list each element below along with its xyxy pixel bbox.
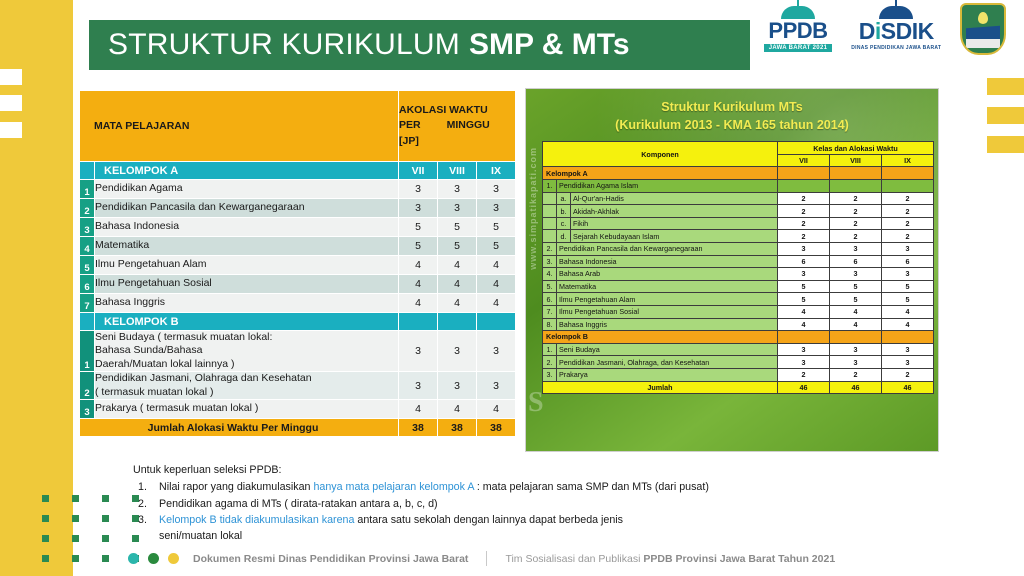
- mts-row-ix: 3: [882, 268, 934, 281]
- mts-row-label: Fikih: [571, 217, 778, 230]
- row-number: 3: [80, 400, 95, 419]
- mts-total-vii: 46: [778, 381, 830, 394]
- mts-row-no: 1.: [543, 343, 557, 356]
- mts-total-viii: 46: [830, 381, 882, 394]
- ppdb-logo: PPDB JAWA BARAT 2021: [764, 6, 833, 52]
- mts-row-sub: b.: [557, 205, 571, 218]
- mts-row-no: [543, 217, 557, 230]
- note-highlight: hanya mata pelajaran kelompok A: [313, 481, 473, 493]
- row-subject-line1: Pendidikan Jasmani, Olahraga dan Kesehat…: [95, 372, 398, 385]
- mts-row-no: 2.: [543, 356, 557, 369]
- row-number: 3: [80, 218, 95, 237]
- table-header-row: MATA PELAJARAN AKOLASI WAKTU PER MINGGU …: [80, 91, 516, 162]
- header-alloc-line2: PER MINGGU: [399, 118, 515, 133]
- group-b-blank-viii: [438, 313, 477, 331]
- row-subject-line2: ( termasuk muatan lokal ): [95, 386, 398, 399]
- mts-row-viii: 2: [830, 368, 882, 381]
- mts-row-ix: 6: [882, 255, 934, 268]
- table-row: 4 Matematika 5 5 5: [80, 237, 516, 256]
- table-row: 7 Bahasa Inggris 4 4 4: [80, 294, 516, 313]
- row-subject: Pendidikan Agama: [95, 180, 399, 199]
- row-value-viii: 3: [438, 180, 477, 199]
- row-value-ix: 5: [477, 237, 516, 256]
- page-title-light: STRUKTUR KURIKULUM: [108, 28, 460, 62]
- header-subject-cell: MATA PELAJARAN: [80, 91, 399, 162]
- disdik-logo-text: DiSDIK: [859, 20, 934, 43]
- mts-group-a-vii: [778, 167, 830, 180]
- row-subject: Matematika: [95, 237, 399, 256]
- disdik-logo-subtext: DINAS PENDIDIKAN JAWA BARAT: [846, 44, 946, 52]
- row-value-viii: 4: [438, 400, 477, 419]
- group-b-blank-ix: [477, 313, 516, 331]
- crest-star: [978, 12, 988, 24]
- mts-row-vii: 3: [778, 243, 830, 256]
- row-subject: Ilmu Pengetahuan Alam: [95, 256, 399, 275]
- mts-row-no: 2.: [543, 243, 557, 256]
- mts-row-viii: [830, 180, 882, 193]
- row-value-viii: 3: [438, 199, 477, 218]
- mts-group-a-ix: [882, 167, 934, 180]
- note-post: : mata pelajaran sama SMP dan MTs (dari …: [474, 481, 709, 493]
- building-dome-icon: [781, 6, 815, 19]
- mts-row-label: Pendidikan Pancasila dan Kewarganegaraan: [557, 243, 778, 256]
- row-value-vii: 4: [399, 400, 438, 419]
- group-b-label-cell: KELOMPOK B: [95, 313, 399, 331]
- mts-row-ix: 3: [882, 343, 934, 356]
- mts-row-viii: 3: [830, 268, 882, 281]
- row-subject: Bahasa Inggris: [95, 294, 399, 313]
- row-value-viii: 4: [438, 275, 477, 294]
- mts-row: b. Akidah-Akhlak 2 2 2: [543, 205, 934, 218]
- mts-row-vii: 5: [778, 293, 830, 306]
- row-subject: Prakarya ( termasuk muatan lokal ): [95, 400, 399, 419]
- table-row: 3 Prakarya ( termasuk muatan lokal ) 4 4…: [80, 400, 516, 419]
- right-accent-bar-2: [987, 107, 1024, 124]
- row-number: 1: [80, 180, 95, 199]
- page-title-bold: SMP & MTs: [469, 28, 630, 62]
- row-value-ix: 4: [477, 256, 516, 275]
- mts-row-no: 1.: [543, 180, 557, 193]
- mts-row-no: [543, 205, 557, 218]
- mts-row-vii: 4: [778, 318, 830, 331]
- note-post: antara satu sekolah dengan lainnya dapat…: [354, 514, 623, 526]
- row-value-ix: 4: [477, 294, 516, 313]
- mts-group-b-label: Kelompok B: [543, 331, 778, 344]
- mts-group-a-row: Kelompok A: [543, 167, 934, 180]
- mts-row-sub: a.: [557, 192, 571, 205]
- row-value-vii: 4: [399, 294, 438, 313]
- mts-table: Komponen Kelas dan Alokasi Waktu VII VII…: [542, 141, 934, 394]
- row-subject-line1: Seni Budaya ( termasuk muatan lokal:: [95, 331, 398, 344]
- row-value-ix: 4: [477, 400, 516, 419]
- table-row: 5 Ilmu Pengetahuan Alam 4 4 4: [80, 256, 516, 275]
- mts-row-label: Matematika: [557, 280, 778, 293]
- notes-heading: Untuk keperluan seleksi PPDB:: [133, 462, 853, 478]
- mts-group-a-label: Kelompok A: [543, 167, 778, 180]
- mts-class-ix: IX: [882, 154, 934, 167]
- row-number: 6: [80, 275, 95, 294]
- mts-row-no: [543, 192, 557, 205]
- mts-group-b-vii: [778, 331, 830, 344]
- mts-row-label: Akidah-Akhlak: [571, 205, 778, 218]
- mts-row-viii: 4: [830, 305, 882, 318]
- mts-row: a. Al-Qur'an-Hadis 2 2 2: [543, 192, 934, 205]
- row-number: 2: [80, 372, 95, 400]
- group-a-label-cell: KELOMPOK A: [95, 162, 399, 180]
- building-dome-icon: [879, 6, 913, 19]
- mts-row: 1. Pendidikan Agama Islam: [543, 180, 934, 193]
- notch-2: [0, 95, 22, 111]
- mts-row-ix: 2: [882, 217, 934, 230]
- mts-row-viii: 3: [830, 343, 882, 356]
- mts-group-b-ix: [882, 331, 934, 344]
- note-item: Pendidikan agama di MTs ( dirata-ratakan…: [133, 496, 853, 512]
- table-row: 2 Pendidikan Jasmani, Olahraga dan Keseh…: [80, 372, 516, 400]
- mts-row-ix: 2: [882, 205, 934, 218]
- mts-row-label: Ilmu Pengetahuan Alam: [557, 293, 778, 306]
- group-a-spacer: [80, 162, 95, 180]
- row-number: 4: [80, 237, 95, 256]
- mts-group-a-viii: [830, 167, 882, 180]
- mts-class-viii: VIII: [830, 154, 882, 167]
- mts-row-viii: 2: [830, 205, 882, 218]
- row-value-vii: 4: [399, 256, 438, 275]
- ppdb-logo-text: PPDB: [768, 20, 827, 42]
- mts-row-ix: [882, 180, 934, 193]
- mts-row-no: 3.: [543, 368, 557, 381]
- mts-row: 7. Ilmu Pengetahuan Sosial 4 4 4: [543, 305, 934, 318]
- footer-right-pre: Tim Sosialisasi dan Publikasi: [505, 553, 643, 565]
- mts-row-label: Bahasa Inggris: [557, 318, 778, 331]
- footer-left-text: Dokumen Resmi Dinas Pendidikan Provinsi …: [193, 553, 468, 565]
- notch-3: [0, 122, 22, 138]
- disdik-logo: DiSDIK DINAS PENDIDIKAN JAWA BARAT: [846, 6, 946, 52]
- total-value-viii: 38: [438, 419, 477, 437]
- mts-row-viii: 2: [830, 217, 882, 230]
- mts-row: 5. Matematika 5 5 5: [543, 280, 934, 293]
- row-value-vii: 3: [399, 331, 438, 372]
- header-alloc-minggu: MINGGU: [447, 118, 490, 133]
- row-subject: Bahasa Indonesia: [95, 218, 399, 237]
- mts-row-label: Sejarah Kebudayaan Islam: [571, 230, 778, 243]
- mts-row-ix: 2: [882, 230, 934, 243]
- mts-row-vii: [778, 180, 830, 193]
- mts-row-no: 7.: [543, 305, 557, 318]
- crest-wave: [966, 39, 1000, 48]
- mts-row: d. Sejarah Kebudayaan Islam 2 2 2: [543, 230, 934, 243]
- row-value-ix: 3: [477, 180, 516, 199]
- row-number: 2: [80, 199, 95, 218]
- mts-group-b-viii: [830, 331, 882, 344]
- table-row: 1 Seni Budaya ( termasuk muatan lokal: B…: [80, 331, 516, 372]
- class-header-vii: VII: [399, 162, 438, 180]
- row-value-vii: 3: [399, 372, 438, 400]
- note-pre: Nilai rapor yang diakumulasikan: [159, 481, 313, 493]
- mts-header-component: Komponen: [543, 142, 778, 167]
- footer-divider: [486, 551, 487, 566]
- mts-row-viii: 5: [830, 280, 882, 293]
- mts-row: 3. Bahasa Indonesia 6 6 6: [543, 255, 934, 268]
- mts-row-sub: d.: [557, 230, 571, 243]
- mts-title-line2: (Kurikulum 2013 - KMA 165 tahun 2014): [526, 116, 938, 134]
- mts-group-b-row: Kelompok B: [543, 331, 934, 344]
- row-subject-line3: Daerah/Muatan lokal lainnya ): [95, 358, 398, 371]
- mts-row-ix: 4: [882, 318, 934, 331]
- mts-row-viii: 6: [830, 255, 882, 268]
- class-header-viii: VIII: [438, 162, 477, 180]
- mts-row-label: Prakarya: [557, 368, 778, 381]
- mts-row: 8. Bahasa Inggris 4 4 4: [543, 318, 934, 331]
- mts-total-label: Jumlah: [543, 381, 778, 394]
- mts-row-viii: 5: [830, 293, 882, 306]
- row-number: 5: [80, 256, 95, 275]
- right-accent-bar-3: [987, 136, 1024, 153]
- table-row: 1 Pendidikan Agama 3 3 3: [80, 180, 516, 199]
- header-subject-label: MATA PELAJARAN: [80, 120, 398, 132]
- mts-row: 2. Pendidikan Pancasila dan Kewarganegar…: [543, 243, 934, 256]
- mts-panel-title: Struktur Kurikulum MTs (Kurikulum 2013 -…: [526, 89, 938, 141]
- jabar-crest-icon: [960, 3, 1006, 55]
- mts-row-vii: 3: [778, 356, 830, 369]
- mts-row-ix: 4: [882, 305, 934, 318]
- group-a-row: KELOMPOK A VII VIII IX: [80, 162, 516, 180]
- row-value-ix: 3: [477, 331, 516, 372]
- page-title-bar: STRUKTUR KURIKULUM SMP & MTs: [89, 20, 750, 70]
- mts-row-label: Bahasa Indonesia: [557, 255, 778, 268]
- mts-row-vii: 4: [778, 305, 830, 318]
- row-subject: Pendidikan Jasmani, Olahraga dan Kesehat…: [95, 372, 399, 400]
- mts-row-ix: 2: [882, 192, 934, 205]
- group-b-label: KELOMPOK B: [95, 316, 398, 328]
- note-line2: seni/muatan lokal: [159, 528, 853, 544]
- note-item: Kelompok B tidak diakumulasikan karena a…: [133, 512, 853, 545]
- notch-1: [0, 69, 22, 85]
- mts-curriculum-panel: www.simpatikapati.com S Struktur Kurikul…: [525, 88, 939, 452]
- mts-class-vii: VII: [778, 154, 830, 167]
- row-value-ix: 5: [477, 218, 516, 237]
- row-subject: Ilmu Pengetahuan Sosial: [95, 275, 399, 294]
- row-value-ix: 3: [477, 199, 516, 218]
- mts-row-vii: 2: [778, 217, 830, 230]
- mts-row-ix: 2: [882, 368, 934, 381]
- header-alloc-per: PER: [399, 118, 421, 133]
- row-value-viii: 4: [438, 256, 477, 275]
- mts-row-label: Seni Budaya: [557, 343, 778, 356]
- mts-row-no: 4.: [543, 268, 557, 281]
- mts-row-vii: 2: [778, 230, 830, 243]
- footer-dot-1: [128, 553, 139, 564]
- row-value-viii: 3: [438, 331, 477, 372]
- group-b-row: KELOMPOK B: [80, 313, 516, 331]
- mts-row: 4. Bahasa Arab 3 3 3: [543, 268, 934, 281]
- mts-row-vii: 2: [778, 368, 830, 381]
- mts-row-label: Bahasa Arab: [557, 268, 778, 281]
- mts-row-no: 5.: [543, 280, 557, 293]
- row-value-vii: 5: [399, 237, 438, 256]
- group-a-label: KELOMPOK A: [95, 165, 398, 177]
- mts-row-viii: 4: [830, 318, 882, 331]
- mts-row-viii: 2: [830, 230, 882, 243]
- mts-row-vii: 6: [778, 255, 830, 268]
- ppdb-logo-subtext: JAWA BARAT 2021: [764, 44, 833, 52]
- mts-row-vii: 3: [778, 268, 830, 281]
- mts-row-ix: 3: [882, 356, 934, 369]
- mts-title-line1: Struktur Kurikulum MTs: [526, 98, 938, 116]
- row-number: 7: [80, 294, 95, 313]
- header-alloc-line3: [JP]: [399, 134, 515, 149]
- total-value-vii: 38: [399, 419, 438, 437]
- mts-row-viii: 3: [830, 243, 882, 256]
- mts-total-ix: 46: [882, 381, 934, 394]
- slide-canvas: STRUKTUR KURIKULUM SMP & MTs PPDB JAWA B…: [0, 0, 1024, 576]
- mts-row: c. Fikih 2 2 2: [543, 217, 934, 230]
- right-accent-bar-1: [987, 78, 1024, 95]
- row-subject: Pendidikan Pancasila dan Kewarganegaraan: [95, 199, 399, 218]
- total-label: Jumlah Alokasi Waktu Per Minggu: [80, 419, 399, 437]
- mts-row-viii: 3: [830, 356, 882, 369]
- row-value-ix: 4: [477, 275, 516, 294]
- row-value-vii: 3: [399, 180, 438, 199]
- footer-right-text: Tim Sosialisasi dan Publikasi PPDB Provi…: [505, 553, 835, 565]
- row-value-vii: 3: [399, 199, 438, 218]
- row-subject: Seni Budaya ( termasuk muatan lokal: Bah…: [95, 331, 399, 372]
- row-value-vii: 4: [399, 275, 438, 294]
- mts-row: 3. Prakarya 2 2 2: [543, 368, 934, 381]
- mts-row: 2. Pendidikan Jasmani, Olahraga, dan Kes…: [543, 356, 934, 369]
- mts-row-ix: 5: [882, 293, 934, 306]
- total-value-ix: 38: [477, 419, 516, 437]
- mts-row-label: Al-Qur'an-Hadis: [571, 192, 778, 205]
- mts-row-vii: 2: [778, 205, 830, 218]
- mts-row-no: 8.: [543, 318, 557, 331]
- row-number: 1: [80, 331, 95, 372]
- mts-row-no: [543, 230, 557, 243]
- mts-row-sub: c.: [557, 217, 571, 230]
- row-value-ix: 3: [477, 372, 516, 400]
- mts-row-no: 3.: [543, 255, 557, 268]
- mts-row-vii: 3: [778, 343, 830, 356]
- mts-row-vii: 5: [778, 280, 830, 293]
- total-row: Jumlah Alokasi Waktu Per Minggu 38 38 38: [80, 419, 516, 437]
- footer-dot-3: [168, 553, 179, 564]
- notes-section: Untuk keperluan seleksi PPDB: Nilai rapo…: [133, 462, 853, 544]
- note-item: Nilai rapor yang diakumulasikan hanya ma…: [133, 479, 853, 495]
- mts-row-viii: 2: [830, 192, 882, 205]
- notes-list: Nilai rapor yang diakumulasikan hanya ma…: [133, 479, 853, 544]
- row-value-viii: 5: [438, 237, 477, 256]
- logo-card: PPDB JAWA BARAT 2021 DiSDIK DINAS PENDID…: [754, 0, 1016, 62]
- row-value-viii: 4: [438, 294, 477, 313]
- mts-row-label: Pendidikan Agama Islam: [557, 180, 778, 193]
- table-row: 2 Pendidikan Pancasila dan Kewarganegara…: [80, 199, 516, 218]
- row-value-viii: 3: [438, 372, 477, 400]
- mts-header-group: Kelas dan Alokasi Waktu: [778, 142, 934, 155]
- footer-dot-2: [148, 553, 159, 564]
- note-highlight: Kelompok B tidak diakumulasikan karena: [159, 514, 354, 526]
- mts-row-ix: 3: [882, 243, 934, 256]
- mts-row: 6. Ilmu Pengetahuan Alam 5 5 5: [543, 293, 934, 306]
- mts-header-row-1: Komponen Kelas dan Alokasi Waktu: [543, 142, 934, 155]
- mts-row-no: 6.: [543, 293, 557, 306]
- row-value-vii: 5: [399, 218, 438, 237]
- group-b-spacer: [80, 313, 95, 331]
- mts-row-vii: 2: [778, 192, 830, 205]
- row-value-viii: 5: [438, 218, 477, 237]
- header-alloc-line1: AKOLASI WAKTU: [399, 103, 515, 118]
- footer-right-bold: PPDB Provinsi Jawa Barat Tahun 2021: [643, 553, 835, 565]
- table-row: 6 Ilmu Pengetahuan Sosial 4 4 4: [80, 275, 516, 294]
- header-allocation-cell: AKOLASI WAKTU PER MINGGU [JP]: [399, 91, 516, 162]
- mts-total-row: Jumlah 46 46 46: [543, 381, 934, 394]
- group-b-blank-vii: [399, 313, 438, 331]
- mts-row-label: Pendidikan Jasmani, Olahraga, dan Keseha…: [557, 356, 778, 369]
- table-row: 3 Bahasa Indonesia 5 5 5: [80, 218, 516, 237]
- note-pre: Pendidikan agama di MTs ( dirata-ratakan…: [159, 498, 438, 510]
- mts-row-ix: 5: [882, 280, 934, 293]
- mts-row-label: Ilmu Pengetahuan Sosial: [557, 305, 778, 318]
- mts-row: 1. Seni Budaya 3 3 3: [543, 343, 934, 356]
- footer-bar: Dokumen Resmi Dinas Pendidikan Provinsi …: [128, 551, 888, 566]
- smp-curriculum-table: MATA PELAJARAN AKOLASI WAKTU PER MINGGU …: [79, 90, 516, 437]
- row-subject-line2: Bahasa Sunda/Bahasa: [95, 344, 398, 357]
- class-header-ix: IX: [477, 162, 516, 180]
